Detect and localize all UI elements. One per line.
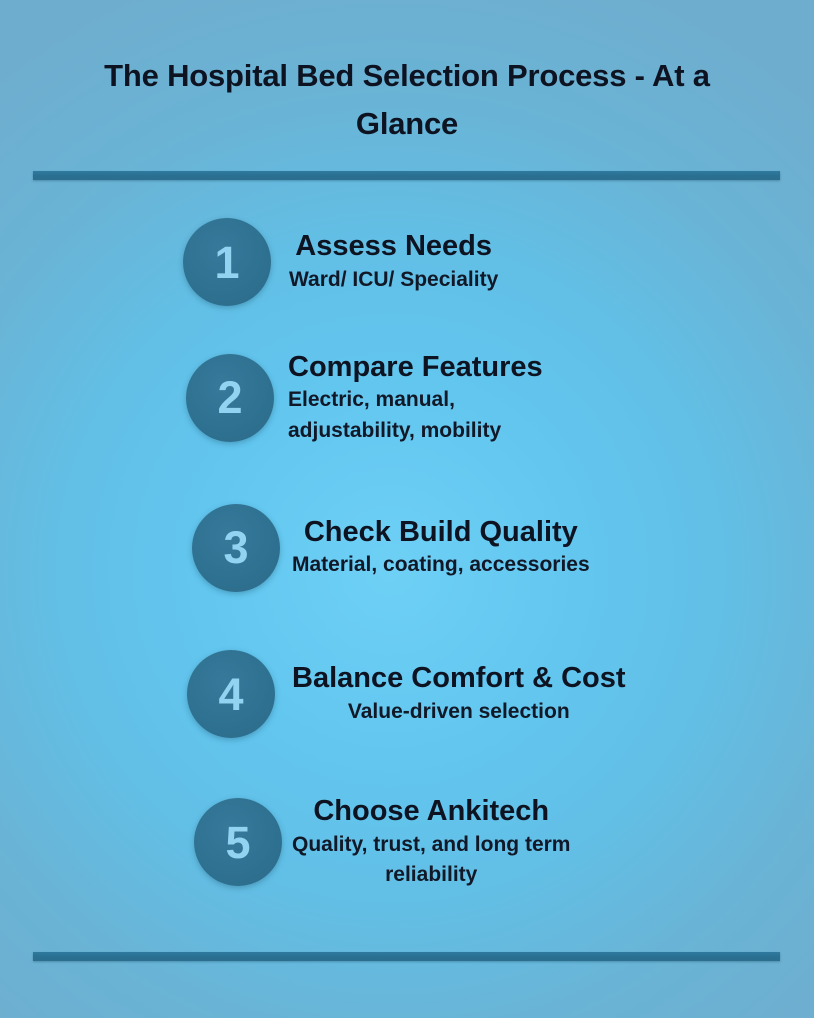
step-text-2: Compare Features Electric, manual, adjus… <box>288 351 543 445</box>
step-subtitle-2-line-1: Electric, manual, <box>288 386 543 414</box>
step-subtitle-4-line-1: Value-driven selection <box>292 698 626 726</box>
step-number-badge-5: 5 <box>194 798 282 886</box>
step-item-2: 2 Compare Features Electric, manual, adj… <box>0 321 814 474</box>
step-number-badge-2: 2 <box>186 354 274 442</box>
step-title-2: Compare Features <box>288 351 543 383</box>
step-text-4: Balance Comfort & Cost Value-driven sele… <box>292 662 626 725</box>
step-title-1: Assess Needs <box>289 230 498 262</box>
divider-bottom <box>33 952 780 961</box>
step-title-5: Choose Ankitech <box>292 795 570 827</box>
step-item-5: 5 Choose Ankitech Quality, trust, and lo… <box>0 767 814 917</box>
step-number-badge-4: 4 <box>187 650 275 738</box>
step-text-1: Assess Needs Ward/ ICU/ Speciality <box>289 230 498 293</box>
step-text-5: Choose Ankitech Quality, trust, and long… <box>292 795 570 889</box>
step-subtitle-3-line-1: Material, coating, accessories <box>292 551 590 579</box>
steps-list: 1 Assess Needs Ward/ ICU/ Speciality 2 C… <box>0 203 814 917</box>
step-subtitle-1-line-1: Ward/ ICU/ Speciality <box>289 266 498 294</box>
divider-top <box>33 171 780 180</box>
poster-title-line-2: Glance <box>40 100 774 148</box>
step-item-4: 4 Balance Comfort & Cost Value-driven se… <box>0 621 814 767</box>
step-subtitle-5-line-1: Quality, trust, and long term <box>292 831 570 859</box>
step-subtitle-5-line-2: reliability <box>292 861 570 889</box>
step-number-badge-3: 3 <box>192 504 280 592</box>
step-title-3: Check Build Quality <box>292 516 590 548</box>
step-item-3: 3 Check Build Quality Material, coating,… <box>0 474 814 621</box>
step-title-4: Balance Comfort & Cost <box>292 662 626 694</box>
step-number-badge-1: 1 <box>183 218 271 306</box>
infographic-poster: The Hospital Bed Selection Process - At … <box>0 0 814 1018</box>
poster-title-line-1: The Hospital Bed Selection Process - At … <box>40 52 774 100</box>
poster-title: The Hospital Bed Selection Process - At … <box>40 52 774 148</box>
step-item-1: 1 Assess Needs Ward/ ICU/ Speciality <box>0 203 814 321</box>
step-subtitle-2-line-2: adjustability, mobility <box>288 417 543 445</box>
step-text-3: Check Build Quality Material, coating, a… <box>292 516 590 579</box>
